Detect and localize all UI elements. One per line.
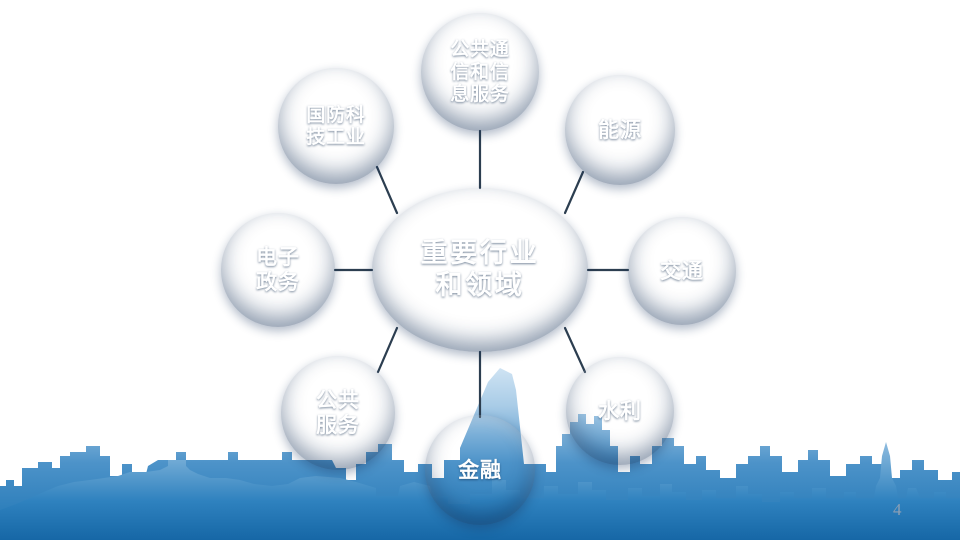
node-finance[interactable]: 金融 xyxy=(425,415,535,525)
node-center-key-industries[interactable]: 重要行业 和领域 xyxy=(372,188,588,352)
node-defense-science-technology-industry[interactable]: 国防科 技工业 xyxy=(278,68,394,184)
node-public-communication-and-information-services[interactable]: 公共通 信和信 息服务 xyxy=(421,13,539,131)
node-energy[interactable]: 能源 xyxy=(565,75,675,185)
node-public-comm-label: 公共通 信和信 息服务 xyxy=(444,38,515,105)
node-center-label: 重要行业 和领域 xyxy=(415,238,546,302)
node-public-services[interactable]: 公共 服务 xyxy=(281,356,395,470)
slide-canvas: 重要行业 和领域 公共通 信和信 息服务 国防科 技工业 能源 交通 电子 政务… xyxy=(0,0,960,540)
node-water-resources[interactable]: 水利 xyxy=(566,357,674,465)
edge-center-defense-industry xyxy=(377,167,397,213)
edge-center-water-resources xyxy=(565,328,585,372)
edge-center-public-service xyxy=(378,328,397,372)
node-transportation[interactable]: 交通 xyxy=(628,217,736,325)
node-finance-label: 金融 xyxy=(452,458,508,483)
node-transport-label: 交通 xyxy=(654,259,710,284)
page-number: 4 xyxy=(893,500,902,520)
node-water-resources-label: 水利 xyxy=(592,399,648,424)
node-energy-label: 能源 xyxy=(592,118,648,143)
node-e-government-label: 电子 政务 xyxy=(250,245,306,295)
edge-center-energy xyxy=(565,172,583,213)
node-public-service-label: 公共 服务 xyxy=(310,388,366,438)
node-e-government[interactable]: 电子 政务 xyxy=(221,213,335,327)
node-defense-industry-label: 国防科 技工业 xyxy=(300,104,371,149)
